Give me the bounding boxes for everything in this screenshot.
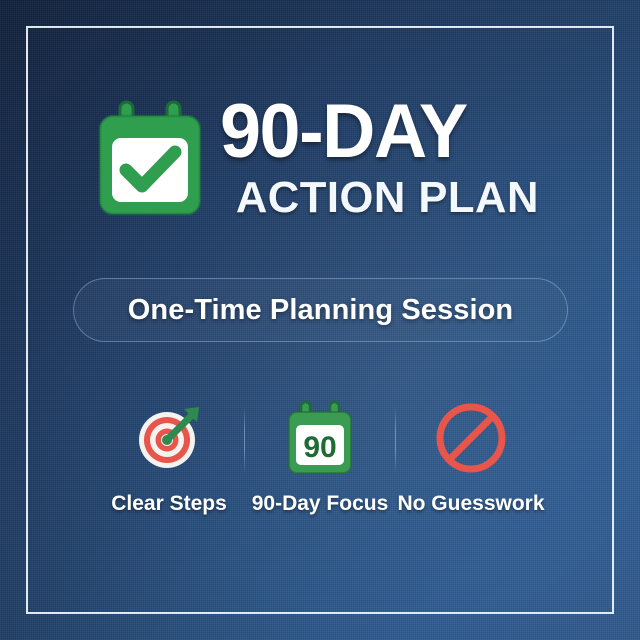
page-title: 90-DAY	[220, 96, 467, 169]
page-subtitle: ACTION PLAN	[220, 176, 539, 220]
feature-label: No Guesswork	[397, 492, 544, 516]
status-badge: One-Time Planning Session	[73, 278, 568, 342]
feature-item-no-guesswork: No Guesswork	[396, 398, 546, 516]
status-badge-label: One-Time Planning Session	[128, 294, 514, 327]
feature-label: Clear Steps	[111, 492, 227, 516]
calendar-number: 90	[303, 431, 336, 464]
poster-content: 90-DAY ACTION PLAN One-Time Planning Ses…	[0, 0, 640, 640]
header-block: 90-DAY ACTION PLAN	[0, 96, 640, 220]
feature-list: Clear Steps 90 90-Day Focus	[0, 398, 640, 516]
target-dart-icon	[133, 398, 205, 478]
feature-item-clear-steps: Clear Steps	[94, 398, 244, 516]
poster-canvas: 90-DAY ACTION PLAN One-Time Planning Ses…	[0, 0, 640, 640]
calendar-90-icon: 90	[287, 398, 353, 478]
feature-label: 90-Day Focus	[252, 492, 389, 516]
prohibition-icon	[434, 398, 508, 478]
calendar-check-icon	[98, 100, 202, 216]
title-group: 90-DAY ACTION PLAN	[220, 96, 542, 220]
feature-item-90-day-focus: 90 90-Day Focus	[245, 398, 395, 516]
